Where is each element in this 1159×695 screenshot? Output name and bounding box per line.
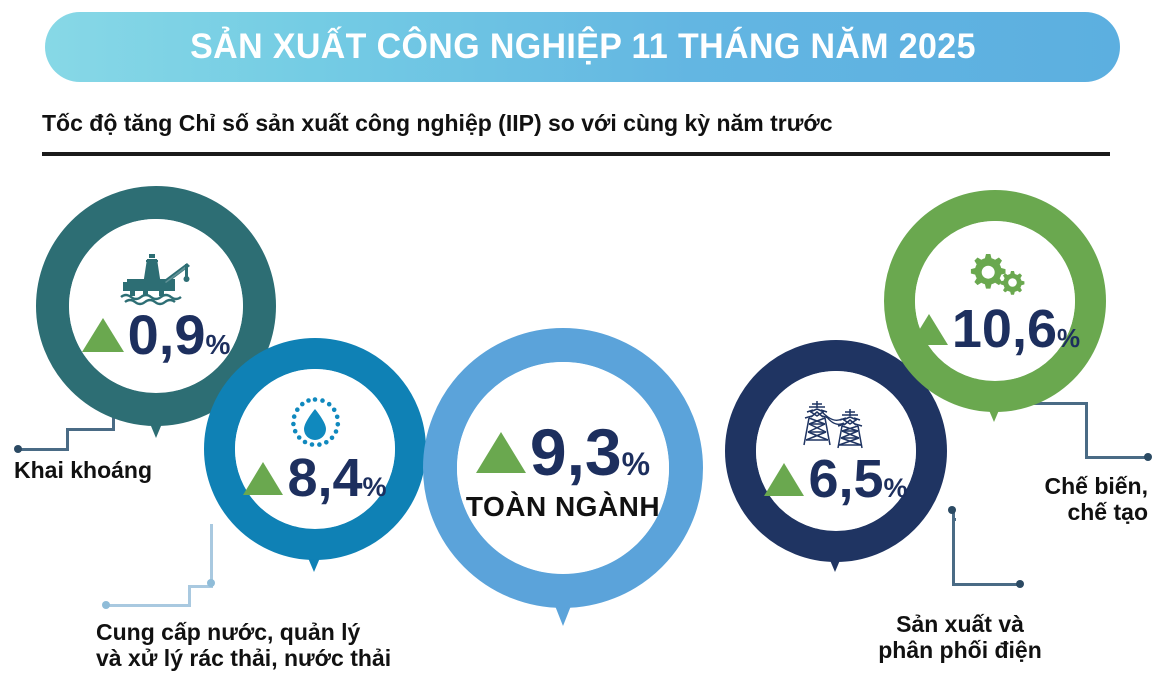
value-text: 6,5: [808, 452, 883, 506]
trend-up-icon: [243, 462, 283, 495]
trend-up-icon: [764, 463, 804, 496]
caption-che-bien-che-tao: Chế biến, chế tạo: [880, 474, 1148, 526]
caption-line: Cung cấp nước, quản lý: [96, 620, 391, 646]
percent-sign: %: [1057, 325, 1080, 351]
caption-san-xuat-dien: Sản xuất và phân phối điện: [855, 612, 1065, 664]
pin-label-toan-nganh: TOÀN NGÀNH: [466, 491, 660, 523]
page-title: SẢN XUẤT CÔNG NGHIỆP 11 THÁNG NĂM 2025: [190, 27, 976, 67]
pin-che-bien-che-tao[interactable]: 10,6 %: [884, 190, 1106, 448]
pin-cung-cap-nuoc[interactable]: 8,4 %: [204, 338, 426, 598]
pin-value-che-bien: 10,6 %: [910, 302, 1080, 356]
value-text: 8,4: [287, 451, 362, 505]
gears-icon: [962, 250, 1028, 302]
pin-body: 10,6 %: [915, 221, 1075, 381]
caption-line: Chế biến,: [880, 474, 1148, 500]
connector-cung-cap-nuoc: [100, 524, 220, 614]
infographic-canvas: SẢN XUẤT CÔNG NGHIỆP 11 THÁNG NĂM 2025 T…: [0, 0, 1159, 695]
pin-toan-nganh[interactable]: 9,3 % TOÀN NGÀNH: [423, 328, 703, 648]
value-text: 10,6: [952, 302, 1057, 356]
value-text: 0,9: [128, 307, 206, 363]
header-banner: SẢN XUẤT CÔNG NGHIỆP 11 THÁNG NĂM 2025: [45, 12, 1120, 82]
pin-body: 9,3 % TOÀN NGÀNH: [457, 362, 669, 574]
trend-up-icon: [476, 432, 526, 473]
caption-line: chế tạo: [880, 500, 1148, 526]
subtitle-divider: [42, 152, 1110, 156]
trend-up-icon: [82, 318, 124, 352]
pin-value-toan-nganh: 9,3 %: [476, 419, 650, 485]
caption-line: phân phối điện: [855, 638, 1065, 664]
subtitle: Tốc độ tăng Chỉ số sản xuất công nghiệp …: [42, 110, 1112, 137]
oil-rig-icon: [119, 251, 193, 307]
caption-cung-cap-nuoc: Cung cấp nước, quản lý và xử lý rác thải…: [96, 620, 391, 672]
water-drop-icon: [286, 395, 344, 451]
pin-value-cung-cap-nuoc: 8,4 %: [243, 451, 386, 505]
caption-line: và xử lý rác thải, nước thải: [96, 646, 391, 672]
caption-line: Sản xuất và: [855, 612, 1065, 638]
caption-line: Khai khoáng: [14, 458, 152, 484]
power-tower-icon: [800, 398, 872, 452]
percent-sign: %: [622, 448, 650, 480]
pin-body: 8,4 %: [235, 369, 395, 529]
value-text: 9,3: [530, 419, 622, 485]
trend-up-icon: [910, 314, 948, 345]
caption-khai-khoang: Khai khoáng: [14, 458, 152, 484]
percent-sign: %: [363, 474, 387, 501]
